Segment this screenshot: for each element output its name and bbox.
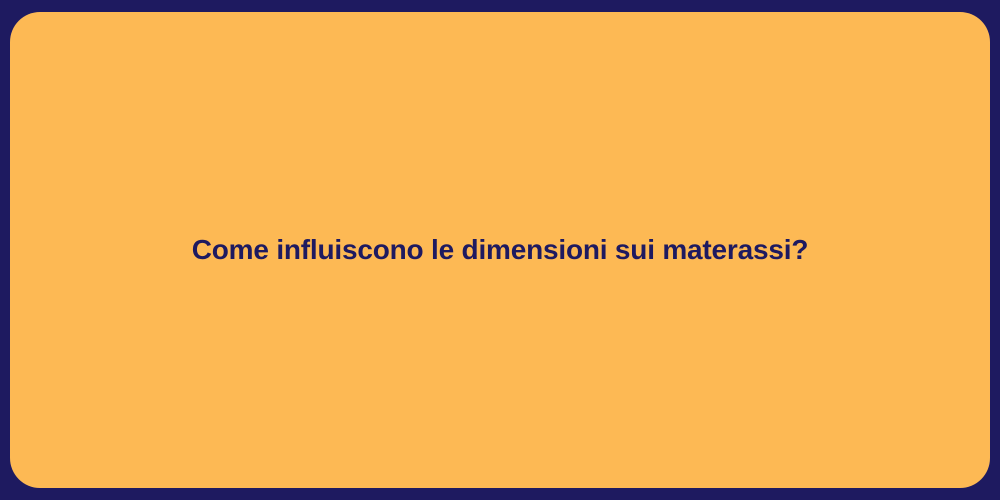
content-panel: Come influiscono le dimensioni sui mater… — [10, 12, 990, 488]
page-frame: Come influiscono le dimensioni sui mater… — [0, 0, 1000, 500]
page-title: Come influiscono le dimensioni sui mater… — [152, 233, 848, 267]
